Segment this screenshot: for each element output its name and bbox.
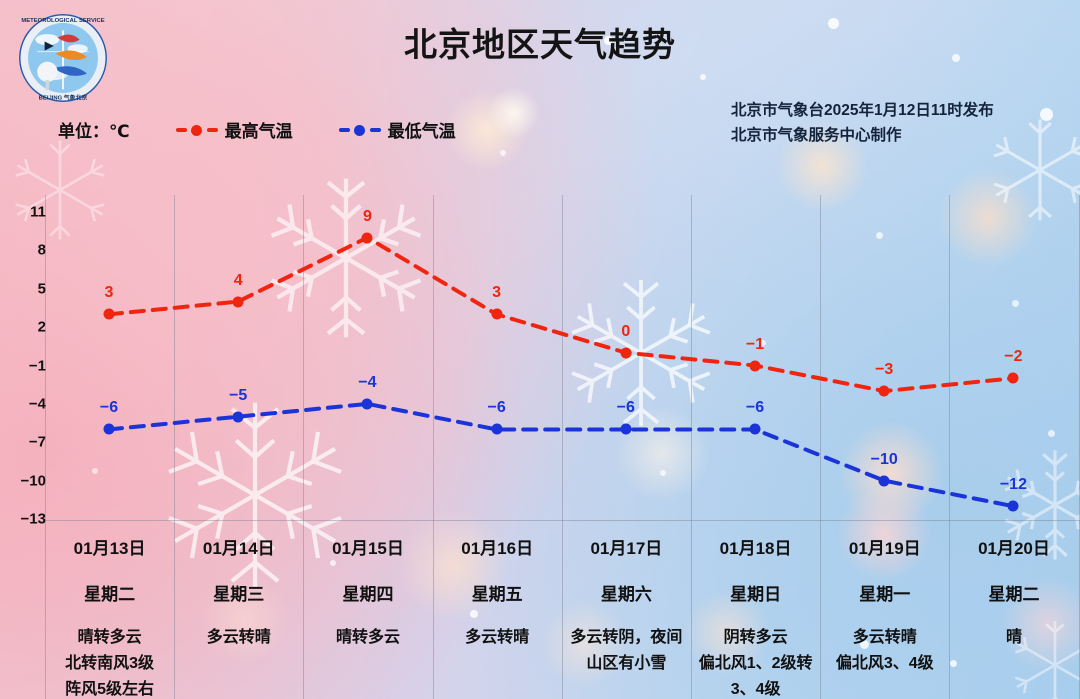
day-weekday: 星期四 [303,580,432,605]
data-point-high [620,347,631,358]
data-point-high [879,386,890,397]
data-label-high: −2 [1004,348,1022,366]
day-condition: 晴转多云 [303,625,432,651]
data-point-low [1008,501,1019,512]
data-point-low [879,475,890,486]
data-label-low: −4 [358,374,376,392]
data-label-low: −6 [100,399,118,417]
day-condition: 晴转多云 北转南风3级 阵风5级左右 [45,625,174,699]
data-point-high [233,296,244,307]
day-column: 01月16日星期五多云转晴 [433,525,562,651]
data-point-low [233,411,244,422]
data-point-low [750,424,761,435]
data-point-low [491,424,502,435]
data-point-high [491,309,502,320]
day-column: 01月20日星期二晴 [949,525,1078,651]
day-column: 01月14日星期三多云转晴 [174,525,303,651]
data-label-low: −10 [871,451,898,469]
data-label-low: −6 [617,399,635,417]
day-column: 01月18日星期日阴转多云 偏北风1、2级转 3、4级 [691,525,820,699]
day-condition: 多云转晴 偏北风3、4级 [820,625,949,677]
day-condition: 晴 [949,625,1078,651]
data-label-high: 3 [492,284,501,302]
data-label-low: −12 [1000,476,1027,494]
day-condition: 阴转多云 偏北风1、2级转 3、4级 [691,625,820,699]
day-column: 01月15日星期四晴转多云 [303,525,432,651]
data-point-high [1008,373,1019,384]
data-point-low [104,424,115,435]
day-date: 01月19日 [820,534,949,559]
day-date: 01月17日 [562,534,691,559]
data-point-low [620,424,631,435]
day-condition: 多云转晴 [174,625,303,651]
data-label-high: 3 [105,284,114,302]
data-label-high: −1 [746,336,764,354]
data-label-high: 9 [363,208,372,226]
data-label-low: −5 [229,387,247,405]
day-date: 01月14日 [174,534,303,559]
day-condition: 多云转晴 [433,625,562,651]
day-weekday: 星期六 [562,580,691,605]
day-weekday: 星期三 [174,580,303,605]
day-weekday: 星期日 [691,580,820,605]
data-point-high [362,232,373,243]
data-point-high [104,309,115,320]
data-label-high: 4 [234,272,243,290]
data-label-low: −6 [746,399,764,417]
day-column: 01月17日星期六多云转阴，夜间 山区有小雪 [562,525,691,677]
day-weekday: 星期二 [45,580,174,605]
day-weekday: 星期五 [433,580,562,605]
day-date: 01月20日 [949,534,1078,559]
day-weekday: 星期二 [949,580,1078,605]
day-column: 01月13日星期二晴转多云 北转南风3级 阵风5级左右 [45,525,174,699]
day-date: 01月16日 [433,534,562,559]
day-weekday: 星期一 [820,580,949,605]
day-column: 01月19日星期一多云转晴 偏北风3、4级 [820,525,949,677]
weather-trend-infographic: METEOROLOGICAL SERVICE BEIJING 气象北京 北京地区… [0,0,1080,699]
day-date: 01月18日 [691,534,820,559]
day-condition: 多云转阴，夜间 山区有小雪 [562,625,691,677]
data-label-high: 0 [621,323,630,341]
data-point-low [362,398,373,409]
data-label-high: −3 [875,361,893,379]
data-point-high [750,360,761,371]
data-label-low: −6 [487,399,505,417]
day-date: 01月15日 [303,534,432,559]
day-date: 01月13日 [45,534,174,559]
